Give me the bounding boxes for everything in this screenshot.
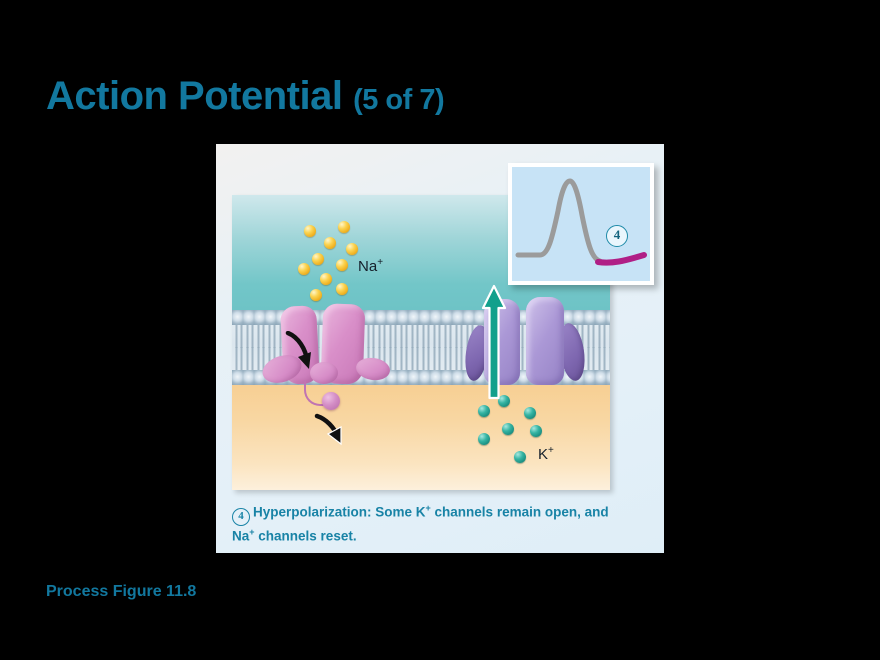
- sodium-gate-reset-arrow-upper: [282, 331, 316, 373]
- caption-step-badge: 4: [232, 508, 250, 526]
- potassium-ion: [524, 407, 536, 419]
- hyperpolarization-highlight: [598, 255, 644, 263]
- page-title-main: Action Potential: [46, 74, 342, 118]
- inset-graph-svg: [512, 167, 650, 281]
- potassium-efflux-arrow: [480, 283, 508, 401]
- action-potential-inset-graph: 4: [508, 163, 654, 285]
- sodium-gate-reset-arrow-lower: [314, 413, 350, 447]
- sodium-ion: [298, 263, 310, 275]
- page-title: Action Potential (5 of 7): [46, 76, 444, 116]
- sodium-ion: [346, 243, 358, 255]
- sodium-ion: [324, 237, 336, 249]
- sodium-ion: [312, 253, 324, 265]
- potassium-ion: [502, 423, 514, 435]
- sodium-channel-lobe-right: [355, 356, 392, 383]
- potassium-ion-label: K+: [538, 445, 554, 463]
- potassium-channel-subunit-right: [526, 297, 564, 385]
- figure-panel: Na+ K+: [216, 144, 664, 553]
- inset-step-badge: 4: [606, 225, 628, 247]
- figure-credit: Process Figure 11.8: [46, 583, 196, 601]
- page-title-step-counter: (5 of 7): [353, 84, 444, 116]
- caption-bold-lead: Hyperpolarization:: [253, 505, 372, 520]
- potassium-ion: [514, 451, 526, 463]
- caption-text-a: Some K: [372, 505, 426, 520]
- action-potential-curve: [518, 181, 600, 261]
- sodium-label-charge: +: [377, 257, 383, 268]
- sodium-ion-label: Na+: [358, 257, 383, 275]
- sodium-ion: [336, 283, 348, 295]
- sodium-channel: [260, 300, 400, 410]
- figure-caption: 4Hyperpolarization: Some K+ channels rem…: [232, 502, 632, 545]
- potassium-label-charge: +: [548, 445, 554, 456]
- potassium-ion: [478, 433, 490, 445]
- sodium-label-text: Na: [358, 258, 377, 275]
- potassium-ion: [478, 405, 490, 417]
- sodium-ion: [304, 225, 316, 237]
- caption-text-b: channels remain: [431, 505, 541, 520]
- caption-text-d: channels reset.: [255, 528, 357, 543]
- sodium-ion: [336, 259, 348, 271]
- potassium-ion: [530, 425, 542, 437]
- potassium-label-text: K: [538, 446, 548, 463]
- sodium-ion: [320, 273, 332, 285]
- sodium-ion: [338, 221, 350, 233]
- sodium-inactivation-gate-ball: [322, 392, 340, 410]
